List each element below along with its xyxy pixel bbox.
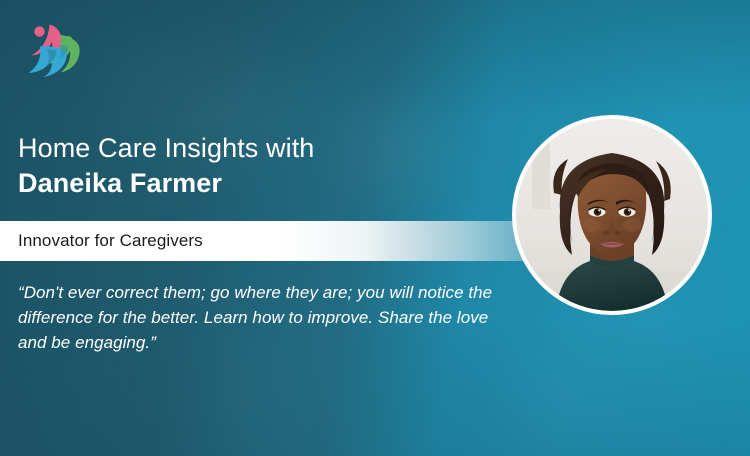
portrait-avatar [512, 115, 712, 315]
headline-block: Home Care Insights with Daneika Farmer [18, 131, 488, 201]
headline-line-1: Home Care Insights with [18, 131, 488, 166]
portrait-photo [516, 119, 708, 311]
role-banner-label: Innovator for Caregivers [18, 231, 203, 251]
three-people-logo-icon [17, 19, 85, 77]
portrait-illustration [516, 119, 708, 311]
quote-block: “Don't ever correct them; go where they … [18, 280, 498, 355]
quote-text: “Don't ever correct them; go where they … [18, 280, 498, 355]
home-care-insights-banner: Home Care Insights with Daneika Farmer I… [0, 0, 750, 456]
headline-line-2: Daneika Farmer [18, 166, 488, 201]
brand-logo[interactable] [17, 19, 85, 77]
